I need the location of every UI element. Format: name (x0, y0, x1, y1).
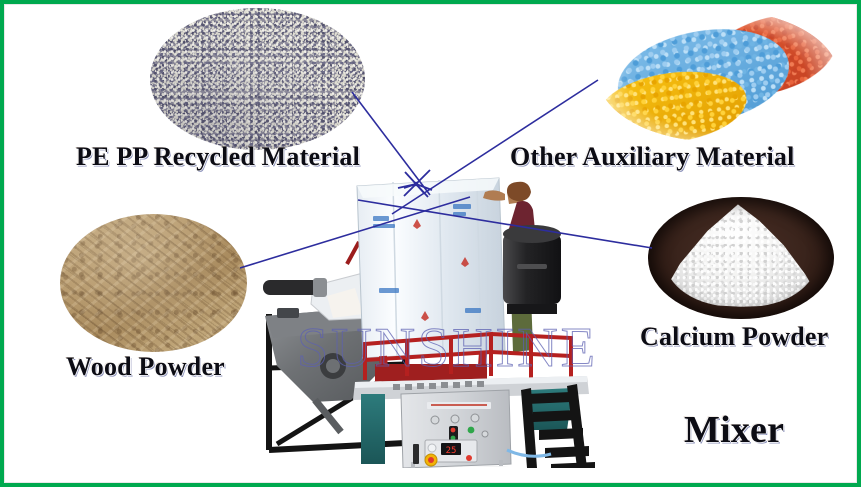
label-pe-pp-recycled-material: PE PP Recycled Material (76, 142, 360, 172)
label-calcium-powder: Calcium Powder (640, 322, 828, 352)
control-cabinet: 25 (401, 390, 511, 468)
aux-vignette (598, 10, 838, 142)
mixer-machine-image: 25 (255, 168, 595, 468)
material-image-pe-pp-recycled (150, 8, 365, 150)
drive-motor (503, 225, 561, 314)
label-wood-powder: Wood Powder (66, 352, 225, 382)
material-image-other-auxiliary (598, 10, 838, 142)
material-image-wood-powder (60, 214, 247, 352)
svg-text:25: 25 (446, 446, 457, 456)
label-mixer: Mixer (684, 408, 784, 452)
material-image-calcium-powder (648, 197, 834, 319)
label-other-auxiliary-material: Other Auxiliary Material (510, 142, 795, 172)
diagram-canvas: 25 (0, 0, 861, 487)
calcium-bowl-rim (648, 197, 834, 319)
